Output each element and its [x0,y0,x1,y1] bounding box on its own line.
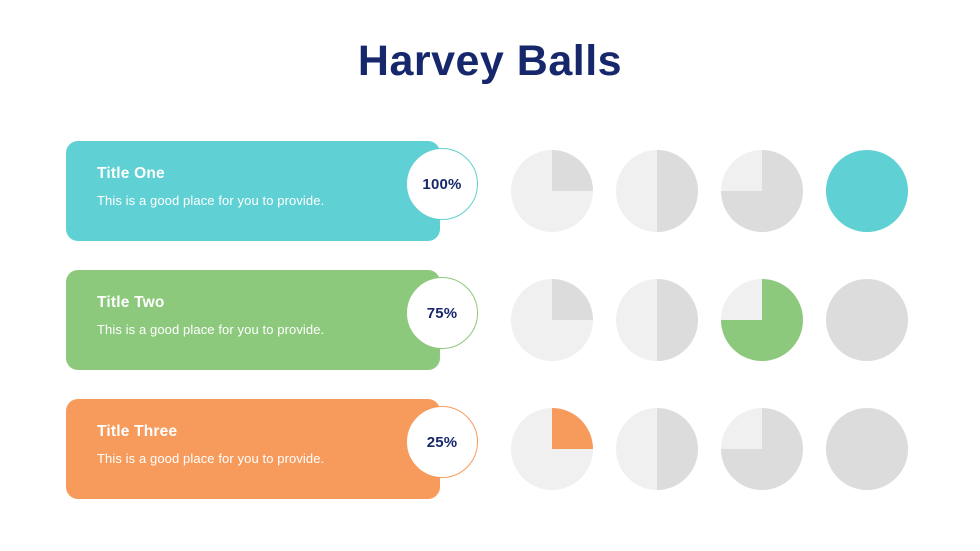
card-description: This is a good place for you to provide. [97,322,440,338]
harvey-ball-icon[interactable] [616,279,698,361]
harvey-ball-group [511,408,911,490]
harvey-ball-row: Title OneThis is a good place for you to… [0,141,980,241]
percent-badge: 100% [406,148,478,220]
harvey-ball-group [511,150,911,232]
info-card[interactable]: Title TwoThis is a good place for you to… [66,270,440,370]
percent-badge: 25% [406,406,478,478]
harvey-ball-rows: Title OneThis is a good place for you to… [0,141,980,528]
harvey-ball-icon[interactable] [721,150,803,232]
harvey-ball-icon[interactable] [721,279,803,361]
slide-canvas: Harvey Balls Title OneThis is a good pla… [0,0,980,551]
harvey-ball-icon[interactable] [826,408,908,490]
harvey-ball-icon[interactable] [616,150,698,232]
harvey-ball-icon[interactable] [511,408,593,490]
harvey-ball-icon[interactable] [511,150,593,232]
harvey-ball-icon[interactable] [511,279,593,361]
percent-badge: 75% [406,277,478,349]
card-title: Title Two [97,294,440,313]
info-card[interactable]: Title OneThis is a good place for you to… [66,141,440,241]
info-card[interactable]: Title ThreeThis is a good place for you … [66,399,440,499]
card-description: This is a good place for you to provide. [97,193,440,209]
harvey-ball-group [511,279,911,361]
harvey-ball-row: Title ThreeThis is a good place for you … [0,399,980,499]
page-title: Harvey Balls [0,38,980,85]
card-description: This is a good place for you to provide. [97,451,440,467]
harvey-ball-icon[interactable] [616,408,698,490]
card-title: Title One [97,165,440,184]
harvey-ball-icon[interactable] [826,279,908,361]
harvey-ball-icon[interactable] [721,408,803,490]
harvey-ball-icon[interactable] [826,150,908,232]
harvey-ball-row: Title TwoThis is a good place for you to… [0,270,980,370]
card-title: Title Three [97,423,440,442]
